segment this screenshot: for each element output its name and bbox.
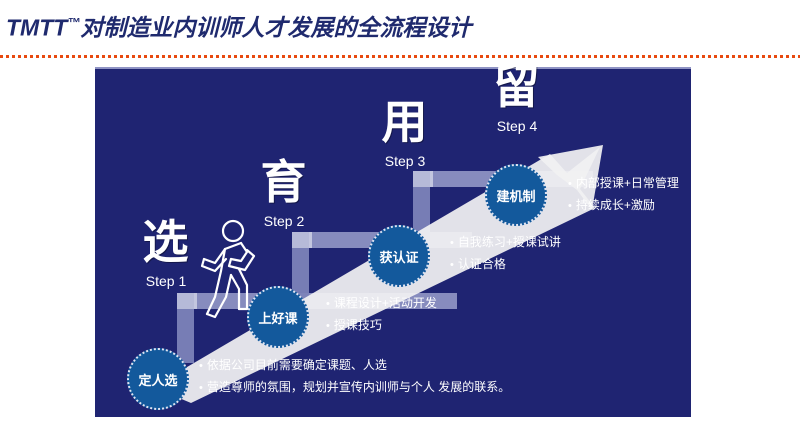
step-riser-hi-3: [413, 171, 430, 187]
stage-step-2: Step 2: [247, 214, 321, 228]
step-riser-hi-2: [292, 232, 309, 248]
stage-glyph-2: 育: [247, 159, 321, 205]
stage-label-1: 选 Step 1: [129, 219, 203, 288]
stage-step-4: Step 4: [480, 119, 554, 133]
node-bullets-3: 自我练习+授课试讲 认证合格: [450, 232, 561, 276]
stage-glyph-3: 用: [368, 99, 442, 145]
bullet-item: 营造尊师的氛围，规划并宣传内训师与个人 发展的联系。: [199, 377, 510, 399]
node-bullets-2: 课程设计+活动开发 授课技巧: [326, 293, 437, 337]
title-divider: [0, 55, 800, 58]
stage-label-2: 育 Step 2: [247, 159, 321, 228]
trademark-icon: ™: [67, 15, 80, 30]
bullet-item: 依据公司目前需要确定课题、人选: [199, 355, 510, 377]
stage-glyph-1: 选: [129, 219, 203, 265]
bullet-item: 内部授课+日常管理: [568, 173, 679, 195]
bullet-item: 持续成长+激励: [568, 195, 679, 217]
node-label-4: 建机制: [496, 186, 535, 205]
node-circle-1[interactable]: 定人选: [127, 348, 189, 410]
stage-step-1: Step 1: [129, 274, 203, 288]
page-title: TMTT™对制造业内训师人才发展的全流程设计: [6, 6, 471, 45]
step-riser-hi-1: [177, 293, 194, 309]
node-circle-2[interactable]: 上好课: [247, 286, 309, 348]
stage-step-3: Step 3: [368, 154, 442, 168]
bullet-item: 授课技巧: [326, 315, 437, 337]
diagram-panel: 选 Step 1 育 Step 2 用 Step 3 留 Step 4 定人选 …: [95, 67, 691, 417]
node-bullets-1: 依据公司目前需要确定课题、人选 营造尊师的氛围，规划并宣传内训师与个人 发展的联…: [199, 355, 510, 399]
bullet-item: 课程设计+活动开发: [326, 293, 437, 315]
bullet-item: 自我练习+授课试讲: [450, 232, 561, 254]
node-label-1: 定人选: [138, 370, 177, 389]
node-circle-3[interactable]: 获认证: [368, 225, 430, 287]
node-bullets-4: 内部授课+日常管理 持续成长+激励: [568, 173, 679, 217]
page-title-rest: 对制造业内训师人才发展的全流程设计: [80, 15, 471, 41]
stage-glyph-4: 留: [480, 67, 554, 110]
stage-label-3: 用 Step 3: [368, 99, 442, 168]
node-label-2: 上好课: [258, 308, 297, 327]
stage-label-4: 留 Step 4: [480, 67, 554, 133]
node-circle-4[interactable]: 建机制: [485, 164, 547, 226]
panel-top-border: [95, 67, 691, 69]
node-label-3: 获认证: [379, 247, 418, 266]
bullet-item: 认证合格: [450, 254, 561, 276]
page-title-brand: TMTT: [6, 15, 67, 41]
